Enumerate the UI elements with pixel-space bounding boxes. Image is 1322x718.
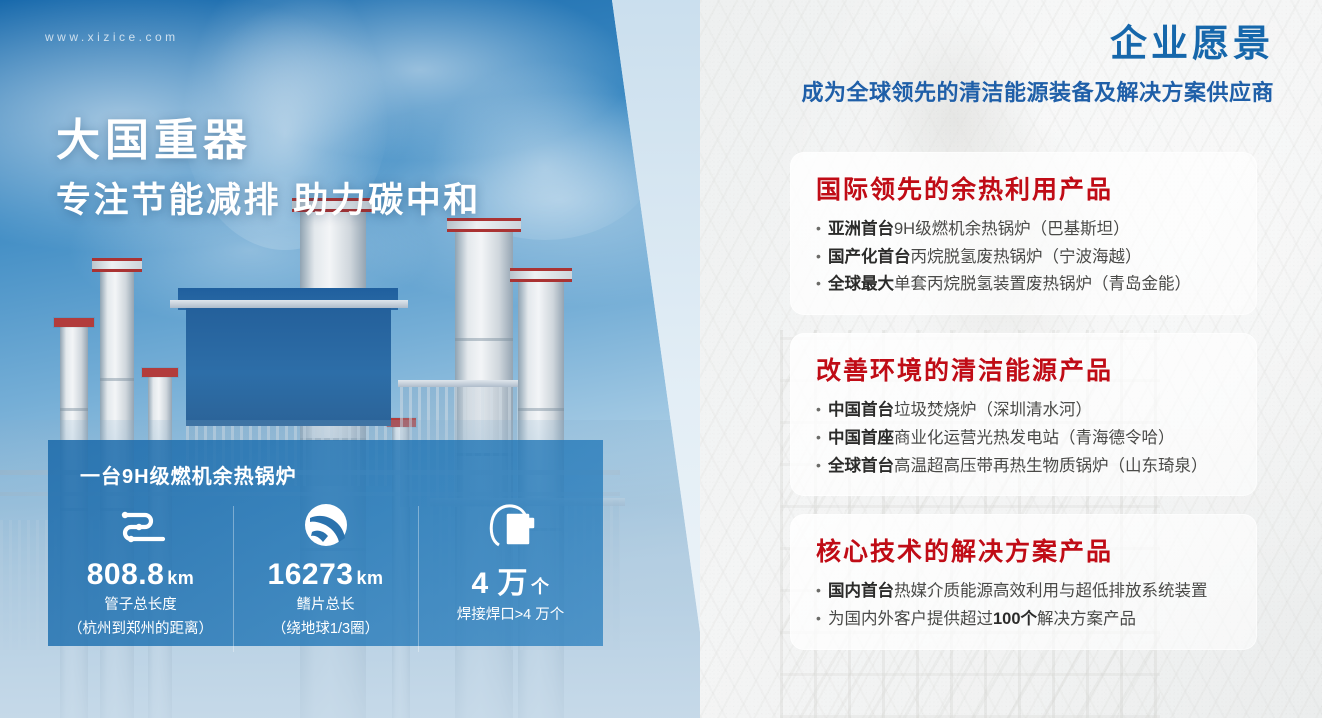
vision-card-bullet: •全球最大单套丙烷脱氢装置废热锅炉（青岛金能） — [816, 271, 1231, 299]
bullet-text: 国产化首台丙烷脱氢废热锅炉（宁波海越） — [828, 244, 1142, 272]
bullet-dot-icon: • — [816, 216, 828, 240]
stat-item: 16273km 鳍片总长 （绕地球1/3圈） — [233, 502, 418, 640]
boiler-house — [186, 308, 391, 426]
vision-card-bullet: •国内首台热媒介质能源高效利用与超低排放系统装置 — [816, 578, 1231, 606]
vision-card-bullet: •中国首座商业化运营光热发电站（青海德令哈） — [816, 425, 1231, 453]
stat-item: 808.8km 管子总长度 （杭州到郑州的距离） — [48, 502, 233, 640]
platform-deck — [170, 300, 408, 308]
bullet-dot-icon: • — [816, 244, 828, 268]
vision-panel: 企业愿景 成为全球领先的清洁能源装备及解决方案供应商 国际领先的余热利用产品•亚… — [700, 0, 1322, 718]
bullet-dot-icon: • — [816, 578, 828, 602]
bullet-text: 全球首台高温超高压带再热生物质锅炉（山东琦泉） — [828, 453, 1208, 481]
bullet-dot-icon: • — [816, 606, 828, 630]
vision-card-bullet: •为国内外客户提供超过100个解决方案产品 — [816, 606, 1231, 634]
vision-card-bullet: •全球首台高温超高压带再热生物质锅炉（山东琦泉） — [816, 453, 1231, 481]
vision-card-title: 国际领先的余热利用产品 — [816, 170, 1231, 206]
globe-icon — [233, 502, 418, 548]
vision-card-bullet: •国产化首台丙烷脱氢废热锅炉（宁波海越） — [816, 244, 1231, 272]
vision-header: 企业愿景 成为全球领先的清洁能源装备及解决方案供应商 — [801, 24, 1274, 107]
vision-card-title: 核心技术的解决方案产品 — [816, 532, 1231, 568]
slide-root: www.xizice.com 大国重器 专注节能减排 助力碳中和 一台9H级燃机… — [0, 0, 1322, 718]
bullet-dot-icon: • — [816, 425, 828, 449]
vision-card: 核心技术的解决方案产品•国内首台热媒介质能源高效利用与超低排放系统装置•为国内外… — [790, 514, 1257, 649]
page-subtitle: 成为全球领先的清洁能源装备及解决方案供应商 — [801, 75, 1274, 107]
stat-label-line2: （绕地球1/3圈） — [233, 619, 418, 640]
page-title: 企业愿景 — [801, 24, 1274, 65]
stats-panel: 一台9H级燃机余热锅炉 808.8km 管子总长度 （杭州到郑州的距离） — [48, 440, 603, 646]
stat-label-line1: 鳍片总长 — [233, 595, 418, 616]
platform-deck — [398, 380, 518, 387]
bullet-dot-icon: • — [816, 271, 828, 295]
stats-columns: 808.8km 管子总长度 （杭州到郑州的距离） 16273km 鳍片总长 （绕… — [48, 502, 603, 640]
headline-main: 大国重器 — [56, 104, 252, 168]
stat-label-line1: 焊接焊口>4 万个 — [418, 605, 603, 626]
welding-mask-icon — [418, 502, 603, 548]
stats-panel-title: 一台9H级燃机余热锅炉 — [80, 460, 297, 489]
vision-card-title: 改善环境的清洁能源产品 — [816, 351, 1231, 387]
stat-label-line1: 管子总长度 — [48, 595, 233, 616]
bullet-text: 中国首台垃圾焚烧炉（深圳清水河） — [828, 397, 1092, 425]
vision-card-list: 国际领先的余热利用产品•亚洲首台9H级燃机余热锅炉（巴基斯坦）•国产化首台丙烷脱… — [790, 152, 1257, 668]
vision-card-bullet: •亚洲首台9H级燃机余热锅炉（巴基斯坦） — [816, 216, 1231, 244]
bullet-text: 国内首台热媒介质能源高效利用与超低排放系统装置 — [828, 578, 1208, 606]
bullet-text: 亚洲首台9H级燃机余热锅炉（巴基斯坦） — [828, 216, 1130, 244]
stat-item: 4 万个 焊接焊口>4 万个 — [418, 502, 603, 640]
vision-card: 国际领先的余热利用产品•亚洲首台9H级燃机余热锅炉（巴基斯坦）•国产化首台丙烷脱… — [790, 152, 1257, 315]
bullet-text: 中国首座商业化运营光热发电站（青海德令哈） — [828, 425, 1175, 453]
pipe-route-icon — [48, 502, 233, 548]
stat-value: 16273km — [233, 558, 418, 592]
bullet-text: 全球最大单套丙烷脱氢装置废热锅炉（青岛金能） — [828, 271, 1191, 299]
bullet-text: 为国内外客户提供超过100个解决方案产品 — [828, 606, 1136, 634]
vision-card-bullet: •中国首台垃圾焚烧炉（深圳清水河） — [816, 397, 1231, 425]
vision-card: 改善环境的清洁能源产品•中国首台垃圾焚烧炉（深圳清水河）•中国首座商业化运营光热… — [790, 333, 1257, 496]
headline-sub: 专注节能减排 助力碳中和 — [56, 172, 481, 223]
stat-value: 808.8km — [48, 558, 233, 592]
bullet-dot-icon: • — [816, 397, 828, 421]
stat-value: 4 万个 — [418, 558, 603, 602]
bullet-dot-icon: • — [816, 453, 828, 477]
website-url: www.xizice.com — [45, 30, 179, 44]
stat-label-line2: （杭州到郑州的距离） — [48, 619, 233, 640]
